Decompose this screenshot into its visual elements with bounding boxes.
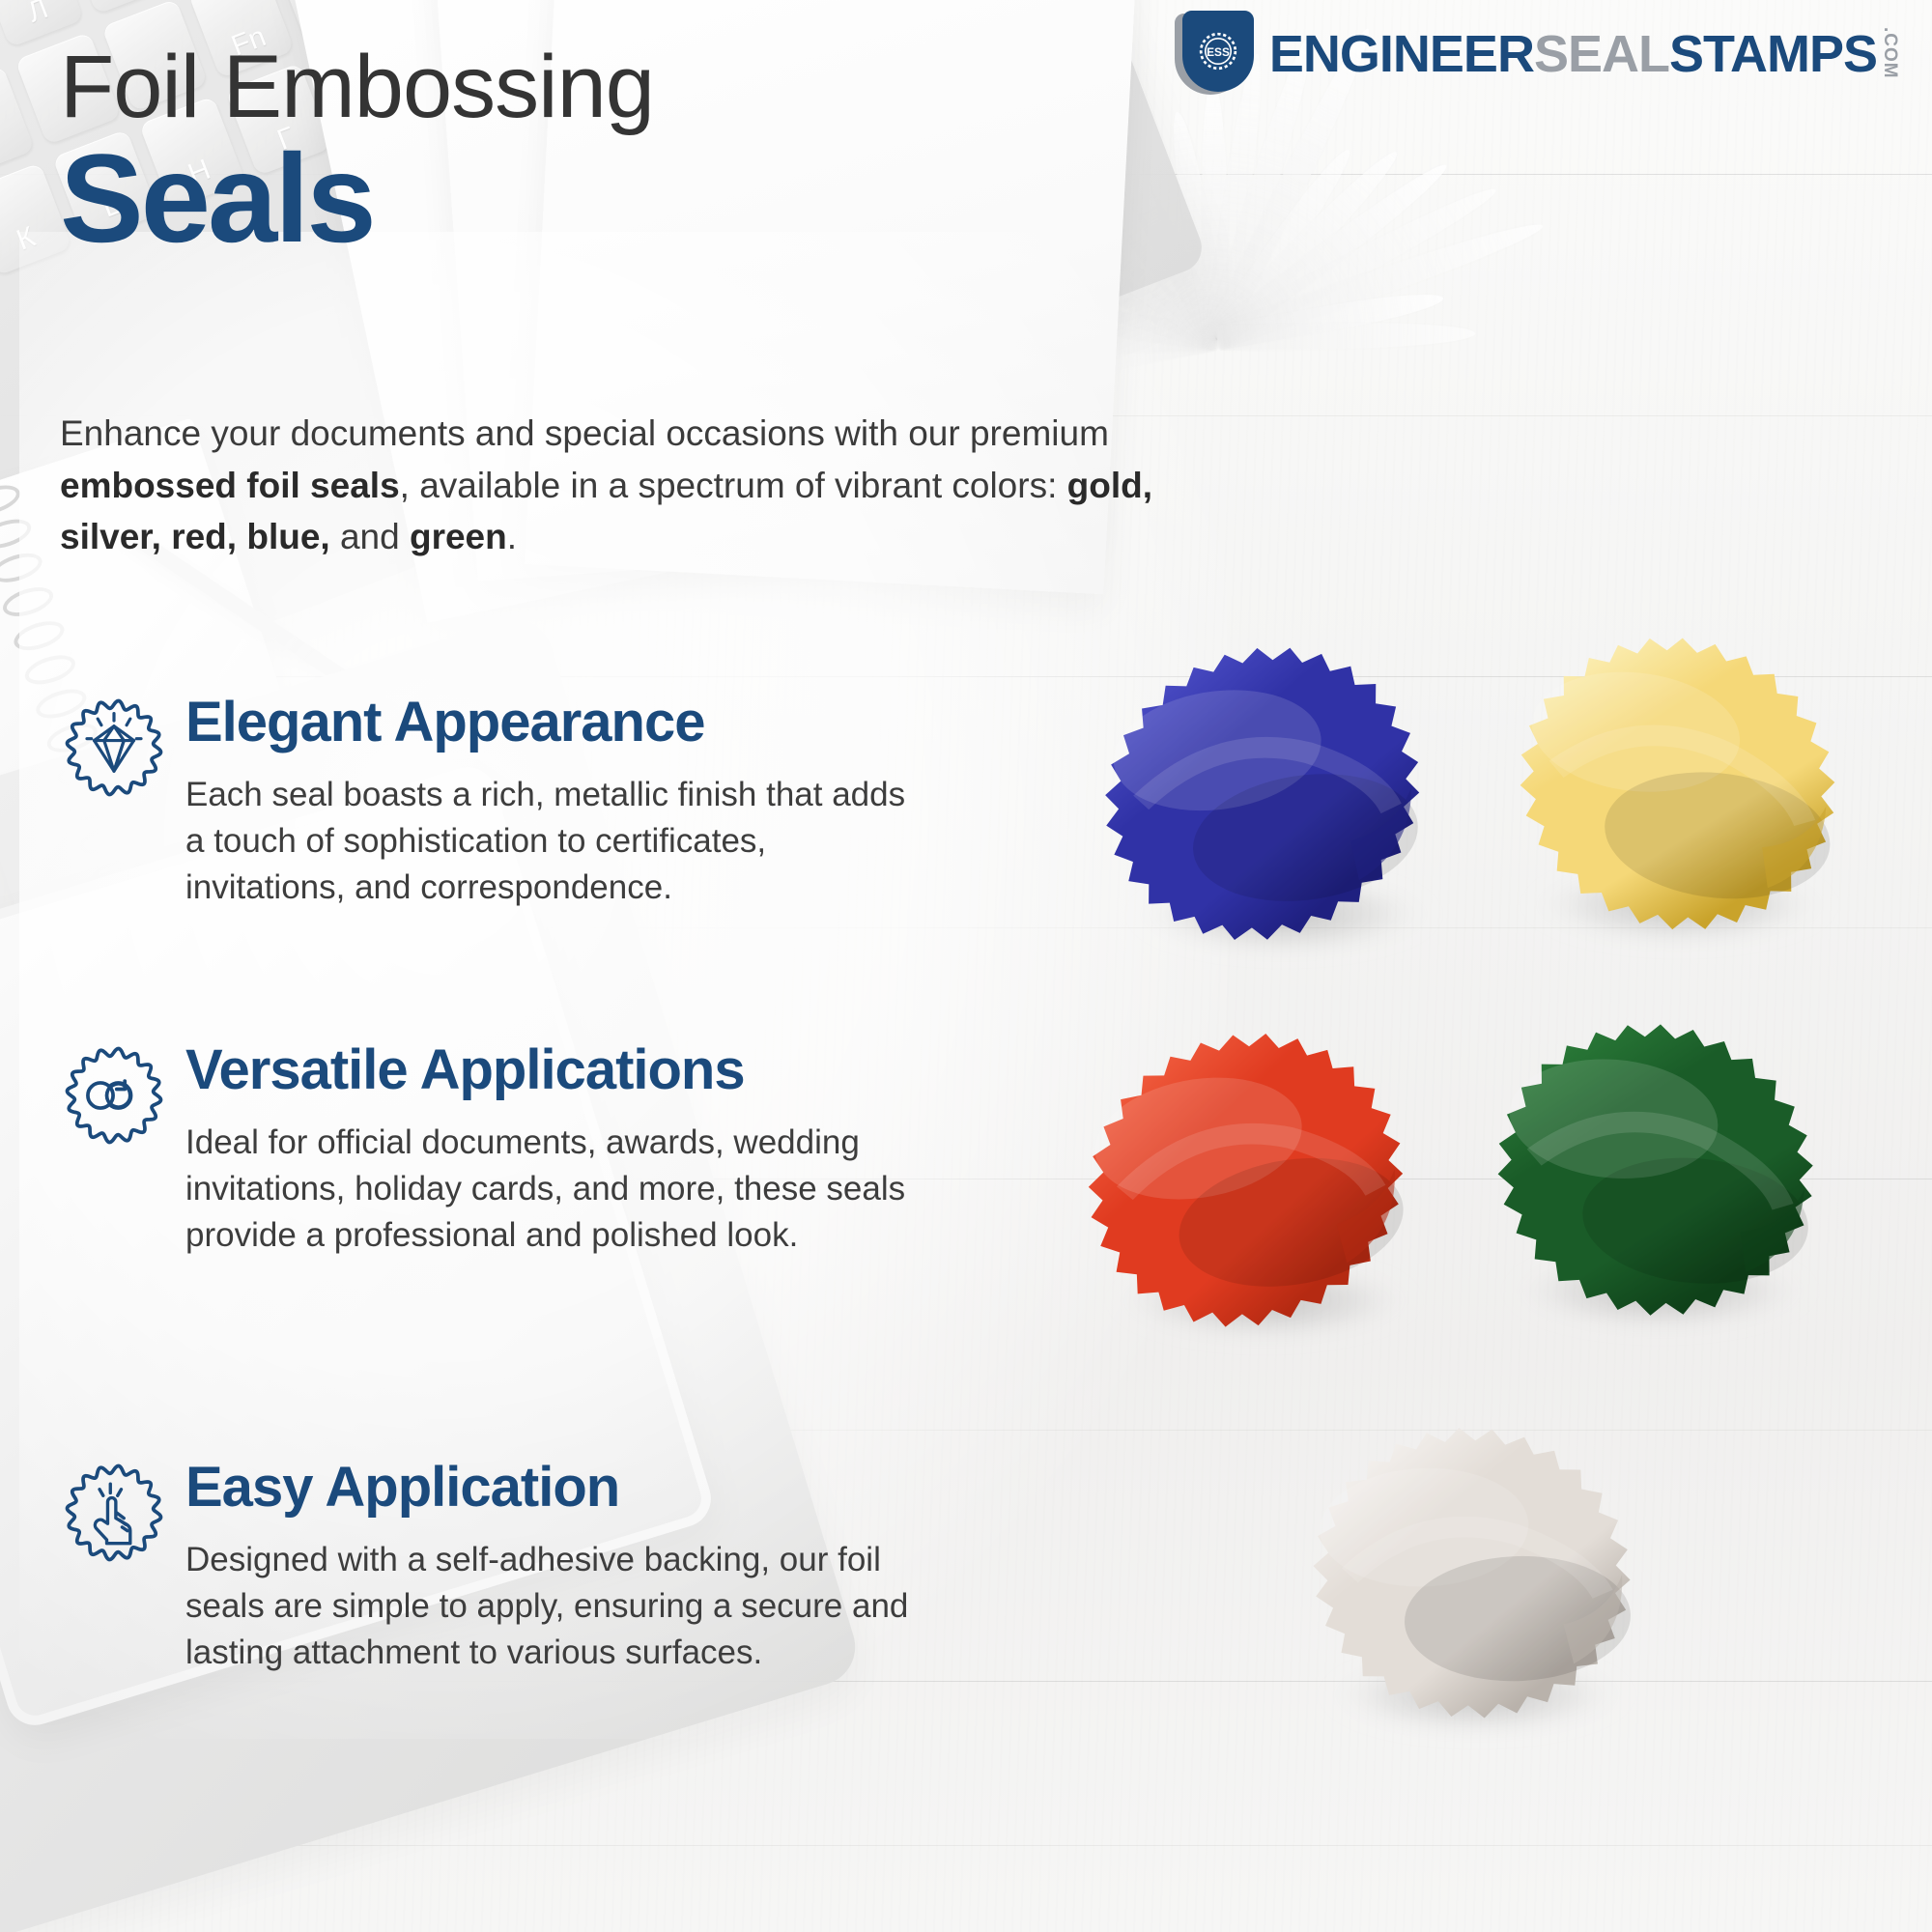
hand-tap-seal-icon	[60, 1459, 168, 1567]
intro-seg-3: and	[330, 517, 410, 556]
foil-seal-red	[1061, 1024, 1447, 1372]
spiral-ring	[0, 582, 57, 621]
page-title-line-2: Seals	[60, 135, 374, 261]
feature-elegant-appearance: Elegant Appearance Each seal boasts a ri…	[60, 694, 910, 912]
page-title-line-1: Foil Embossing	[60, 43, 654, 131]
feature-heading: Elegant Appearance	[185, 694, 910, 753]
infinity-seal-icon	[60, 1041, 168, 1150]
feature-heading: Versatile Applications	[185, 1041, 910, 1100]
feature-easy-application: Easy Application Designed with a self-ad…	[60, 1459, 910, 1677]
seal-graphic-green	[1457, 1014, 1843, 1362]
feature-body: Ideal for official documents, awards, we…	[185, 1120, 910, 1260]
logo-word-engineer: ENGINEER	[1269, 28, 1534, 80]
seal-graphic-silver	[1273, 1418, 1660, 1766]
foil-seal-silver	[1273, 1418, 1660, 1766]
foil-seal-gold	[1476, 628, 1862, 976]
feature-body: Each seal boasts a rich, metallic finish…	[185, 772, 910, 912]
seal-graphic-blue	[1080, 638, 1466, 985]
gear-icon: ESS	[1192, 25, 1244, 77]
feature-versatile-applications: Versatile Applications Ideal for officia…	[60, 1041, 910, 1260]
foil-seal-blue	[1080, 638, 1466, 985]
spiral-ring	[11, 615, 68, 655]
intro-seg-4: .	[507, 517, 517, 556]
intro-bold-1: embossed foil seals	[60, 466, 400, 505]
seal-graphic-gold	[1476, 628, 1862, 976]
brand-logo[interactable]: ESS ENGINEERSEALSTAMPS .COM	[1175, 14, 1899, 95]
diamond-seal-icon	[60, 694, 168, 802]
ess-shield-icon: ESS	[1175, 11, 1254, 98]
intro-seg-2: , available in a spectrum of vibrant col…	[400, 466, 1067, 505]
spiral-ring	[0, 480, 23, 520]
spiral-ring	[0, 548, 45, 587]
ess-badge-text: ESS	[1207, 45, 1230, 59]
logo-word-seal: SEAL	[1534, 28, 1669, 80]
foil-seal-green	[1457, 1014, 1843, 1362]
spiral-ring	[21, 650, 78, 690]
feature-body: Designed with a self-adhesive backing, o…	[185, 1537, 910, 1677]
logo-wordmark: ENGINEERSEALSTAMPS .COM	[1269, 27, 1899, 81]
infographic-page: ЙЦУКЕНГШЩЗХЪФЫВАПРОЛДЖЭЯЧСМИТЬБЮ.FnЙЦУКЕ…	[0, 0, 1932, 1932]
feature-heading: Easy Application	[185, 1459, 910, 1518]
intro-bold-3: green	[410, 517, 507, 556]
logo-word-stamps: STAMPS	[1669, 28, 1877, 80]
spiral-ring	[0, 514, 35, 554]
intro-paragraph: Enhance your documents and special occas…	[60, 408, 1200, 563]
seal-graphic-red	[1061, 1024, 1447, 1372]
logo-word-com: .COM	[1881, 27, 1899, 81]
intro-seg-1: Enhance your documents and special occas…	[60, 413, 1109, 453]
